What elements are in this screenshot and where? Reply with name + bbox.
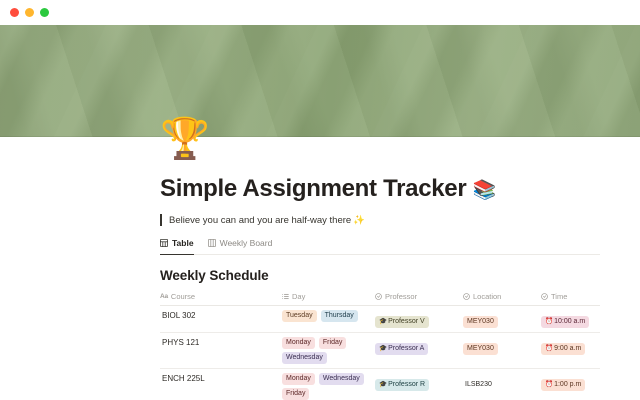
column-header-day-label: Day	[292, 292, 305, 301]
day-tag[interactable]: Wednesday	[319, 373, 364, 385]
course-name: PHYS 121	[160, 337, 282, 349]
column-header-course-label: Course	[171, 292, 195, 301]
page-title[interactable]: Simple Assignment Tracker 📚	[160, 175, 600, 203]
maximize-window-button[interactable]	[40, 8, 49, 17]
minimize-window-button[interactable]	[25, 8, 34, 17]
professor-tag-label: Professor A	[388, 344, 424, 354]
cell-professor[interactable]: 🎓Professor A	[375, 337, 463, 355]
location-tag-label: ILSB230	[465, 380, 492, 390]
day-tag[interactable]: Tuesday	[282, 310, 317, 322]
column-header-time-label: Time	[551, 292, 567, 301]
cell-course[interactable]: BIOL 302	[160, 310, 282, 322]
cell-course[interactable]: ENCH 225L	[160, 373, 282, 385]
cell-course[interactable]: PHYS 121	[160, 337, 282, 349]
time-tag[interactable]: ⏰10:00 a.m	[541, 316, 589, 328]
time-tag-label: 1:00 p.m	[554, 380, 581, 390]
clock-icon: ⏰	[545, 380, 553, 390]
day-tag[interactable]: Monday	[282, 373, 315, 385]
day-tag-list: TuesdayThursday	[282, 310, 375, 322]
day-tag-list: MondayFridayWednesday	[282, 337, 375, 364]
sparkles-icon: ✨	[353, 215, 365, 226]
day-tag[interactable]: Friday	[319, 337, 346, 349]
page-title-text: Simple Assignment Tracker	[160, 175, 466, 202]
table-row[interactable]: ENCH 225LMondayWednesdayFriday🎓Professor…	[160, 369, 600, 400]
tab-weekly-board-label: Weekly Board	[220, 238, 273, 248]
books-icon: 📚	[473, 180, 496, 201]
cell-time[interactable]: ⏰9:00 a.m	[541, 337, 600, 355]
cell-location[interactable]: MEY030	[463, 337, 541, 355]
clock-icon: ⏰	[545, 317, 553, 327]
column-header-professor[interactable]: Professor	[375, 292, 463, 301]
cell-professor[interactable]: 🎓Professor R	[375, 373, 463, 391]
select-icon	[375, 293, 382, 300]
column-header-location-label: Location	[473, 292, 501, 301]
column-header-course[interactable]: Aa Course	[160, 292, 282, 301]
tab-weekly-board[interactable]: Weekly Board	[208, 238, 273, 251]
cell-day[interactable]: MondayFridayWednesday	[282, 337, 375, 364]
location-tag-label: MEY030	[467, 317, 494, 327]
close-window-button[interactable]	[10, 8, 19, 17]
cell-time[interactable]: ⏰1:00 p.m	[541, 373, 600, 391]
course-name: ENCH 225L	[160, 373, 282, 385]
cell-day[interactable]: MondayWednesdayFriday	[282, 373, 375, 400]
cell-time[interactable]: ⏰10:00 a.m	[541, 310, 600, 328]
professor-tag-label: Professor V	[388, 317, 425, 327]
app-window: 🏆 Simple Assignment Tracker 📚 Believe yo…	[0, 0, 640, 400]
time-tag[interactable]: ⏰9:00 a.m	[541, 343, 585, 355]
graduation-icon: 🎓	[379, 317, 387, 327]
database-title[interactable]: Weekly Schedule	[160, 268, 600, 283]
location-tag[interactable]: MEY030	[463, 343, 498, 355]
board-icon	[208, 239, 216, 247]
day-tag[interactable]: Monday	[282, 337, 315, 349]
multiselect-icon	[282, 293, 289, 300]
database-view-tabs: Table Weekly Board	[160, 238, 600, 255]
page-cover-image[interactable]: 🏆	[0, 25, 640, 137]
time-tag-label: 9:00 a.m	[554, 344, 581, 354]
professor-tag[interactable]: 🎓Professor V	[375, 316, 429, 328]
cell-day[interactable]: TuesdayThursday	[282, 310, 375, 322]
table-body: BIOL 302TuesdayThursday🎓Professor VMEY03…	[160, 306, 600, 400]
table-row[interactable]: PHYS 121MondayFridayWednesday🎓Professor …	[160, 333, 600, 369]
column-header-professor-label: Professor	[385, 292, 417, 301]
graduation-icon: 🎓	[379, 380, 387, 390]
select-icon	[541, 293, 548, 300]
time-tag-label: 10:00 a.m	[554, 317, 585, 327]
day-tag[interactable]: Wednesday	[282, 352, 327, 364]
day-tag[interactable]: Friday	[282, 388, 309, 400]
column-header-time[interactable]: Time	[541, 292, 600, 301]
table-icon	[160, 239, 168, 247]
column-header-location[interactable]: Location	[463, 292, 541, 301]
schedule-table: Aa Course Day	[160, 292, 600, 400]
professor-tag[interactable]: 🎓Professor A	[375, 343, 428, 355]
day-tag-list: MondayWednesdayFriday	[282, 373, 375, 400]
table-header-row: Aa Course Day	[160, 292, 600, 306]
cell-location[interactable]: ILSB230	[463, 373, 541, 391]
tab-table-label: Table	[172, 238, 194, 248]
time-tag[interactable]: ⏰1:00 p.m	[541, 379, 585, 391]
select-icon	[463, 293, 470, 300]
location-tag-label: MEY030	[467, 344, 494, 354]
window-titlebar	[0, 0, 640, 25]
cell-professor[interactable]: 🎓Professor V	[375, 310, 463, 328]
page-content: Simple Assignment Tracker 📚 Believe you …	[0, 175, 640, 400]
course-name: BIOL 302	[160, 310, 282, 322]
table-row[interactable]: BIOL 302TuesdayThursday🎓Professor VMEY03…	[160, 306, 600, 333]
text-type-icon: Aa	[160, 293, 168, 300]
professor-tag[interactable]: 🎓Professor R	[375, 379, 429, 391]
clock-icon: ⏰	[545, 344, 553, 354]
location-tag[interactable]: MEY030	[463, 316, 498, 328]
location-tag[interactable]: ILSB230	[463, 379, 496, 391]
quote-text: Believe you can and you are half-way the…	[169, 215, 351, 226]
graduation-icon: 🎓	[379, 344, 387, 354]
cell-location[interactable]: MEY030	[463, 310, 541, 328]
column-header-day[interactable]: Day	[282, 292, 375, 301]
trophy-icon[interactable]: 🏆	[160, 119, 210, 159]
day-tag[interactable]: Thursday	[321, 310, 358, 322]
quote-bar	[160, 214, 162, 226]
tab-table[interactable]: Table	[160, 238, 194, 251]
professor-tag-label: Professor R	[388, 380, 425, 390]
page-quote[interactable]: Believe you can and you are half-way the…	[160, 214, 600, 226]
